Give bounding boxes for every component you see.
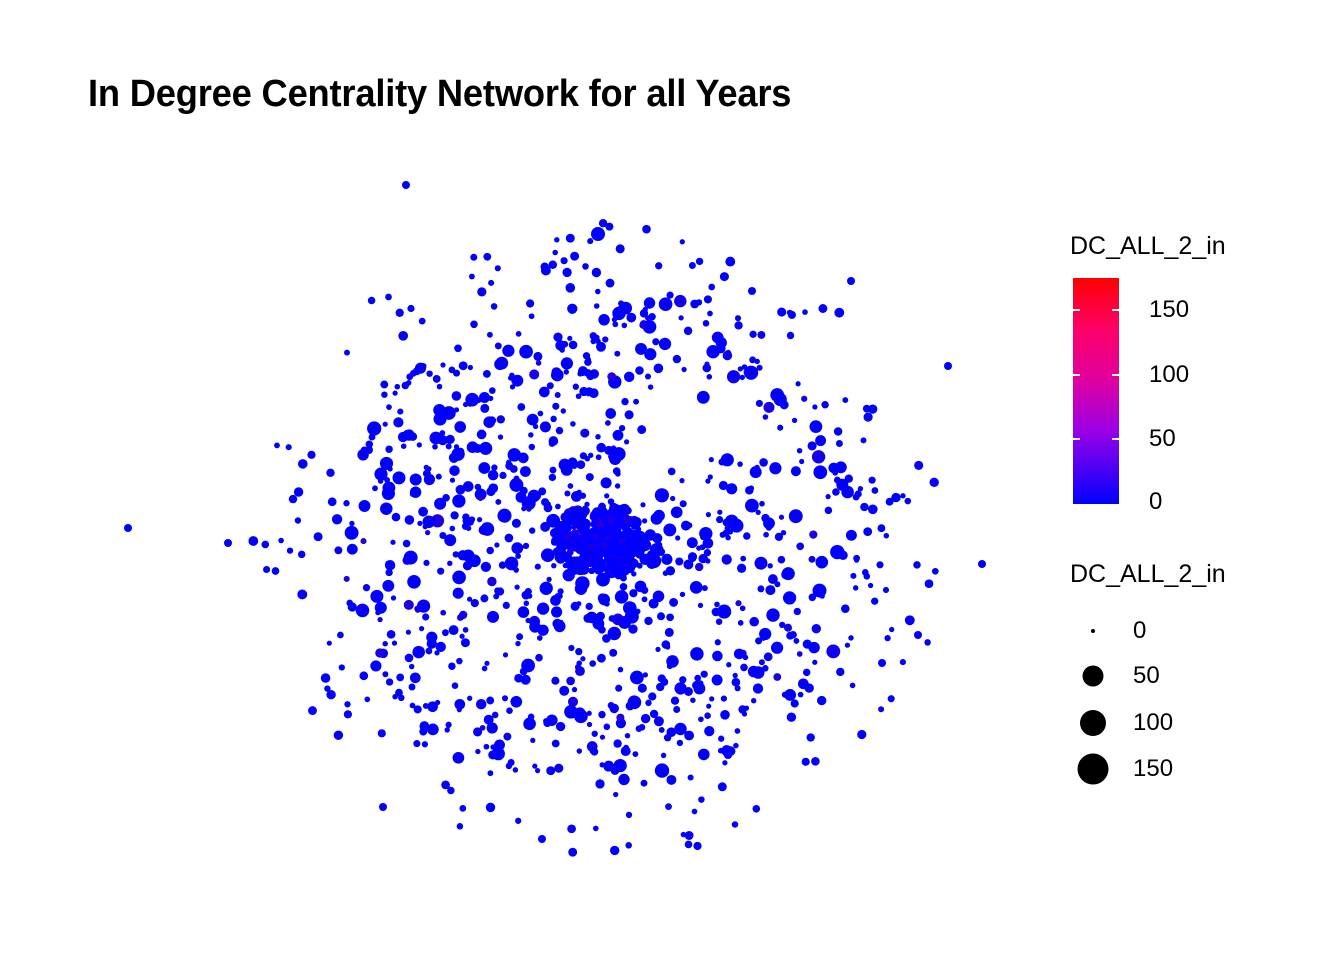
scatter-point: [808, 441, 817, 450]
scatter-point: [513, 451, 518, 456]
scatter-point: [717, 510, 722, 515]
scatter-point: [769, 462, 781, 474]
scatter-point: [407, 305, 414, 312]
scatter-point: [878, 659, 886, 667]
scatter-point: [622, 526, 629, 533]
scatter-point: [382, 580, 394, 592]
scatter-point: [403, 540, 411, 548]
scatter-point: [735, 728, 741, 734]
scatter-point: [402, 181, 410, 189]
scatter-point: [709, 696, 714, 701]
scatter-point: [850, 683, 856, 689]
scatter-point: [628, 624, 637, 633]
scatter-point: [679, 478, 684, 483]
scatter-point: [566, 234, 575, 243]
scatter-point: [587, 722, 592, 727]
scatter-point: [655, 647, 660, 652]
scatter-point: [334, 546, 342, 554]
scatter-point: [802, 758, 810, 766]
scatter-point: [872, 487, 879, 494]
scatter-point: [344, 710, 352, 718]
scatter-point: [621, 545, 627, 551]
scatter-point: [754, 465, 759, 470]
scatter-point: [450, 526, 456, 532]
scatter-point: [681, 832, 687, 838]
scatter-point: [692, 809, 698, 815]
scatter-point: [734, 321, 742, 329]
scatter-point: [612, 321, 618, 327]
scatter-point: [594, 564, 600, 570]
scatter-point: [537, 625, 548, 636]
scatter-point: [360, 538, 366, 544]
scatter-point: [603, 572, 610, 579]
legend-column: DC_ALL_2_in 150100500 DC_ALL_2_in 050100…: [1060, 150, 1320, 850]
scatter-point: [576, 660, 582, 666]
scatter-point: [453, 752, 465, 764]
size-legend-dot: [1078, 754, 1109, 785]
scatter-point: [521, 506, 526, 511]
scatter-point: [532, 764, 537, 769]
scatter-point: [490, 744, 495, 749]
scatter-point: [584, 537, 591, 544]
scatter-point: [419, 626, 424, 631]
page-title: In Degree Centrality Network for all Yea…: [88, 72, 791, 116]
scatter-point: [427, 638, 437, 648]
scatter-point: [567, 336, 572, 341]
scatter-point: [803, 669, 810, 676]
scatter-point: [551, 606, 562, 617]
scatter-point: [483, 442, 488, 447]
scatter-point: [655, 262, 662, 269]
scatter-point: [661, 753, 666, 758]
scatter-point: [812, 660, 817, 665]
scatter-point: [494, 587, 501, 594]
scatter-point: [584, 369, 592, 377]
scatter-point: [457, 823, 464, 830]
scatter-point: [762, 665, 769, 672]
scatter-point: [398, 331, 408, 341]
scatter-point: [433, 375, 441, 383]
scatter-point: [611, 767, 620, 776]
scatter-point: [686, 522, 692, 528]
scatter-point: [599, 513, 605, 519]
scatter-point: [576, 569, 583, 576]
scatter-point: [332, 514, 342, 524]
scatter-point: [378, 729, 386, 737]
scatter-point: [609, 615, 616, 622]
scatter-point: [812, 404, 817, 409]
scatter-point: [648, 692, 656, 700]
scatter-point: [467, 552, 473, 558]
scatter-point: [626, 521, 632, 527]
scatter-point: [675, 557, 683, 565]
scatter-point: [551, 677, 559, 685]
scatter-point: [777, 308, 786, 317]
scatter-point: [626, 313, 636, 323]
scatter-point: [263, 566, 270, 573]
scatter-point: [707, 374, 713, 380]
colour-legend-tick: [1073, 438, 1080, 440]
scatter-point: [568, 483, 574, 489]
scatter-point: [753, 683, 763, 693]
scatter-point: [571, 463, 577, 469]
scatter-point: [562, 341, 569, 348]
scatter-point: [594, 303, 600, 309]
scatter-point: [679, 676, 686, 683]
scatter-point: [813, 465, 827, 479]
scatter-point: [560, 463, 565, 468]
scatter-point: [550, 467, 557, 474]
scatter-point: [654, 363, 664, 373]
scatter-point: [374, 591, 380, 597]
scatter-point: [812, 450, 825, 463]
scatter-point: [664, 734, 671, 741]
scatter-point: [385, 569, 392, 576]
scatter-point: [888, 695, 895, 702]
scatter-point: [738, 620, 744, 626]
scatter-point: [696, 258, 703, 265]
scatter-point: [410, 703, 416, 709]
scatter-point: [361, 446, 368, 453]
scatter-point: [605, 420, 611, 426]
scatter-point: [552, 250, 558, 256]
scatter-point: [725, 257, 735, 267]
scatter-point: [596, 612, 605, 621]
scatter-point: [607, 547, 613, 553]
scatter-point: [568, 697, 578, 707]
scatter-point: [777, 425, 783, 431]
scatter-point: [787, 310, 793, 316]
scatter-point: [571, 525, 576, 530]
scatter-point: [417, 521, 422, 526]
scatter-point: [665, 803, 672, 810]
scatter-point: [567, 824, 576, 833]
scatter-point: [905, 615, 915, 625]
scatter-point: [857, 730, 866, 739]
scatter-point: [415, 365, 421, 371]
scatter-point: [565, 283, 575, 293]
scatter-point: [698, 749, 710, 761]
scatter-point: [585, 357, 591, 363]
colour-legend-label: 150: [1149, 298, 1189, 322]
scatter-point: [631, 571, 636, 576]
scatter-point: [792, 418, 797, 423]
scatter-point: [878, 706, 884, 712]
scatter-point: [410, 492, 415, 497]
scatter-point: [646, 558, 657, 569]
scatter-point: [442, 494, 450, 502]
scatter-point: [779, 515, 784, 520]
scatter-point: [343, 500, 349, 506]
scatter-point: [570, 252, 579, 261]
scatter-point: [425, 530, 430, 535]
scatter-point: [799, 459, 804, 464]
scatter-point: [396, 674, 404, 682]
scatter-point: [629, 589, 637, 597]
scatter-point: [740, 605, 746, 611]
scatter-point: [653, 510, 665, 522]
scatter-point: [580, 656, 585, 661]
scatter-point: [566, 549, 573, 556]
scatter-point: [463, 561, 472, 570]
scatter-point: [497, 509, 511, 523]
scatter-point: [900, 493, 905, 498]
scatter-point: [520, 466, 531, 477]
scatter-point: [484, 715, 494, 725]
scatter-point: [482, 666, 488, 672]
scatter-point: [781, 569, 791, 579]
scatter-point: [877, 524, 885, 532]
scatter-point: [529, 369, 539, 379]
scatter-point: [598, 626, 606, 634]
scatter-point: [453, 626, 458, 631]
scatter-point: [733, 673, 738, 678]
scatter-point: [418, 650, 424, 656]
scatter-point: [419, 318, 426, 325]
scatter-point: [748, 287, 756, 295]
scatter-point: [913, 561, 921, 569]
scatter-point: [446, 435, 455, 444]
scatter-point: [863, 527, 872, 536]
scatter-point: [742, 711, 747, 716]
scatter-point: [573, 384, 579, 390]
scatter-point: [508, 375, 513, 380]
scatter-point: [749, 617, 759, 627]
scatter-point: [454, 344, 462, 352]
scatter-point: [587, 711, 592, 716]
scatter-point: [462, 513, 470, 521]
colour-gradient-swatch: [1073, 278, 1119, 504]
scatter-point: [695, 563, 703, 571]
scatter-point: [298, 551, 305, 558]
scatter-point: [426, 370, 432, 376]
scatter-point: [359, 500, 371, 512]
scatter-point: [707, 311, 713, 317]
scatter-point: [590, 536, 596, 542]
scatter-point: [576, 393, 582, 399]
scatter-point: [678, 687, 685, 694]
scatter-point: [618, 667, 624, 673]
scatter-point: [623, 513, 629, 519]
scatter-point: [624, 439, 629, 444]
scatter-point: [491, 464, 497, 470]
scatter-point: [289, 495, 297, 503]
scatter-point: [853, 585, 858, 590]
scatter-point: [803, 639, 812, 648]
scatter-point: [650, 710, 658, 718]
scatter-point: [846, 530, 857, 541]
scatter-point: [641, 780, 648, 787]
scatter-point: [392, 390, 397, 395]
scatter-point: [452, 391, 462, 401]
scatter-point: [854, 557, 859, 562]
scatter-point: [802, 309, 808, 315]
scatter-point: [437, 384, 443, 390]
scatter-point: [517, 403, 525, 411]
scatter-point: [643, 307, 648, 312]
scatter-point: [536, 360, 542, 366]
scatter-point: [294, 487, 303, 496]
scatter-point: [718, 458, 725, 465]
scatter-point: [488, 280, 494, 286]
scatter-point: [569, 341, 578, 350]
scatter-point: [470, 254, 477, 261]
scatter-point: [655, 763, 669, 777]
scatter-point: [439, 532, 446, 539]
scatter-point: [432, 444, 438, 450]
scatter-point: [738, 366, 743, 371]
scatter-point: [489, 387, 496, 394]
scatter-point: [454, 407, 459, 412]
scatter-point: [684, 687, 693, 696]
scatter-point: [559, 347, 565, 353]
scatter-point: [756, 400, 763, 407]
scatter-point: [727, 370, 740, 383]
scatter-point: [698, 716, 704, 722]
scatter-point: [610, 566, 618, 574]
scatter-point: [488, 396, 493, 401]
scatter-point: [864, 413, 873, 422]
scatter-point: [530, 738, 535, 743]
scatter-point: [611, 445, 616, 450]
scatter-point: [602, 565, 608, 571]
scatter-point: [272, 567, 280, 575]
scatter-point: [410, 474, 422, 486]
scatter-point: [444, 727, 449, 732]
scatter-point: [978, 560, 986, 568]
scatter-point: [552, 740, 560, 748]
scatter-point: [715, 639, 721, 645]
scatter-point: [347, 544, 358, 555]
scatter-point: [732, 821, 739, 828]
scatter-point: [924, 639, 930, 645]
scatter-point: [748, 666, 760, 678]
scatter-point: [712, 651, 723, 662]
scatter-point: [566, 677, 575, 686]
scatter-point: [635, 366, 644, 375]
scatter-point: [632, 751, 638, 757]
scatter-point: [518, 453, 529, 464]
scatter-point: [447, 787, 455, 795]
scatter-point: [809, 556, 816, 563]
scatter-point: [698, 680, 704, 686]
scatter-point: [630, 671, 644, 685]
scatter-point: [406, 630, 411, 635]
scatter-point: [590, 748, 597, 755]
scatter-point: [548, 383, 553, 388]
scatter-point: [712, 675, 723, 686]
scatter-point: [690, 647, 703, 660]
scatter-point: [425, 648, 432, 655]
scatter-point: [506, 465, 511, 470]
scatter-point: [577, 748, 582, 753]
scatter-point: [478, 462, 490, 474]
scatter-point: [599, 547, 606, 554]
scatter-point: [688, 774, 694, 780]
scatter-point: [763, 532, 769, 538]
scatter-point: [613, 430, 624, 441]
scatter-point: [680, 500, 687, 507]
scatter-point: [554, 237, 559, 242]
scatter-point: [744, 369, 750, 375]
scatter-point: [459, 805, 466, 812]
scatter-point: [372, 485, 378, 491]
scatter-point: [663, 570, 669, 576]
scatter-point: [395, 384, 401, 390]
scatter-point: [689, 262, 696, 269]
scatter-point: [493, 593, 499, 599]
scatter-point: [668, 468, 676, 476]
scatter-point: [487, 332, 493, 338]
scatter-point: [453, 588, 464, 599]
scatter-point: [640, 533, 648, 541]
scatter-point: [515, 818, 521, 824]
scatter-point: [740, 664, 748, 672]
scatter-point: [590, 521, 597, 528]
scatter-point: [787, 332, 794, 339]
scatter-point: [503, 602, 510, 609]
scatter-point: [780, 400, 789, 409]
scatter-point: [637, 549, 644, 556]
colour-legend-bar: 150100500: [1073, 278, 1119, 504]
scatter-point: [740, 556, 746, 562]
scatter-point: [297, 589, 307, 599]
scatter-point: [652, 338, 659, 345]
scatter-point: [778, 556, 786, 564]
scatter-point: [654, 535, 661, 542]
scatter-point: [779, 622, 785, 628]
scatter-point: [387, 466, 392, 471]
scatter-point: [626, 541, 631, 546]
scatter-point: [377, 617, 382, 622]
scatter-point: [483, 370, 491, 378]
scatter-point: [709, 457, 714, 462]
scatter-point: [520, 487, 528, 495]
scatter-point: [344, 576, 350, 582]
scatter-point: [537, 602, 549, 614]
scatter-point: [549, 441, 555, 447]
scatter-point: [607, 372, 616, 381]
scatter-point: [675, 535, 680, 540]
scatter-point: [704, 295, 712, 303]
scatter-point: [494, 740, 505, 751]
scatter-point: [727, 529, 733, 535]
scatter-point: [457, 614, 464, 621]
scatter-point: [572, 687, 577, 692]
scatter-point: [667, 663, 673, 669]
scatter-point: [564, 512, 570, 518]
scatter-point: [396, 309, 404, 317]
scatter-point: [339, 664, 345, 670]
scatter-point: [673, 355, 681, 363]
scatter-point: [592, 268, 601, 277]
scatter-point: [558, 521, 565, 528]
scatter-point: [757, 585, 764, 592]
scatter-point: [375, 648, 384, 657]
scatter-point: [720, 710, 730, 720]
scatter-point: [124, 524, 132, 532]
scatter-point: [537, 411, 543, 417]
scatter-point: [797, 651, 803, 657]
scatter-point: [886, 498, 894, 506]
scatter-point: [422, 741, 428, 747]
scatter-point: [484, 744, 490, 750]
scatter-point: [423, 524, 428, 529]
scatter-point: [791, 699, 799, 707]
scatter-point: [417, 442, 422, 447]
scatter-point: [382, 641, 387, 646]
scatter-point: [600, 762, 605, 767]
